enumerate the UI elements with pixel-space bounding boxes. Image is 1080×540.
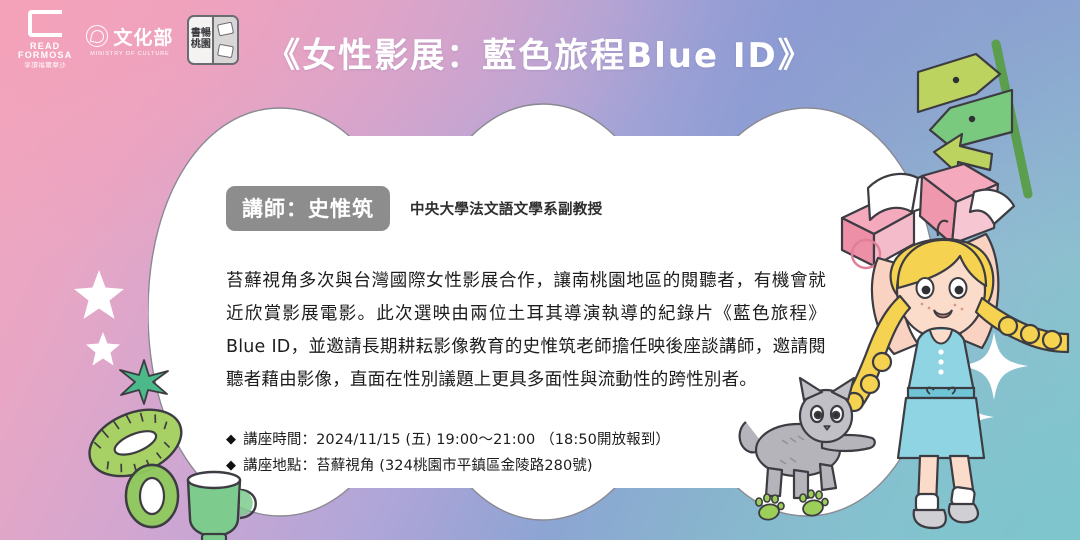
white-star-large-icon — [72, 268, 126, 322]
white-star-small-icon — [84, 330, 122, 368]
green-paw-print-left-icon — [752, 492, 786, 522]
speaker-badge: 講師：史惟筑 — [226, 186, 390, 231]
page-title: 《女性影展：藍色旅程Blue ID》 — [0, 28, 1080, 77]
detail-location-text: 講座地點：苔蘚視角 (324桃園市平鎮區金陵路280號) — [243, 453, 593, 479]
bullet-diamond-icon: ◆ — [226, 427, 236, 453]
green-paw-print-right-icon — [796, 488, 830, 518]
speaker-affiliation: 中央大學法文語文學系副教授 — [410, 198, 602, 219]
detail-time-text: 講座時間：2024/11/15 (五) 19:00～21:00 （18:50開放… — [243, 427, 670, 453]
poster-canvas: READ FORMOSA 享讀福爾摩沙 文化部 MINISTRY OF CULT… — [0, 0, 1080, 540]
speaker-row: 講師：史惟筑 中央大學法文語文學系副教授 — [226, 186, 846, 231]
bullet-diamond-icon: ◆ — [226, 453, 236, 479]
